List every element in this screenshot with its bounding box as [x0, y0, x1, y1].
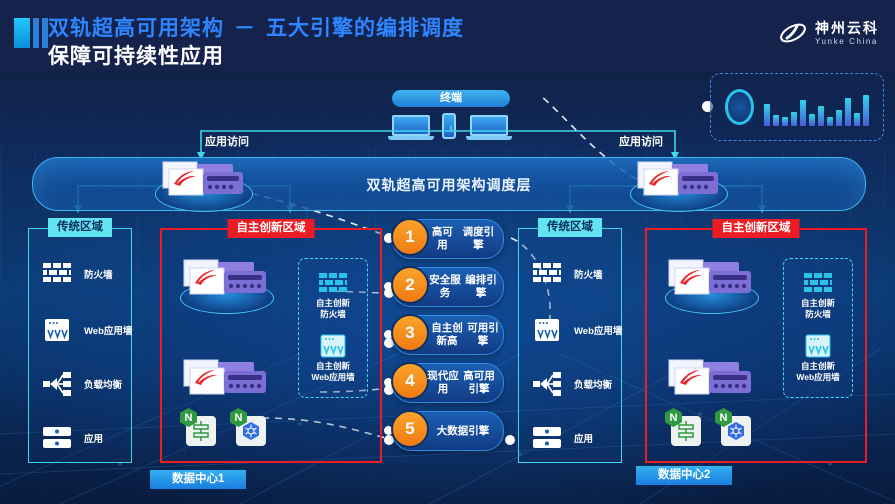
- logo-name-cn: 神州云科: [815, 21, 879, 35]
- bar: [773, 115, 779, 126]
- zone-innovation-dc1: 自主创新区域: [160, 228, 382, 463]
- service-application: 应用: [42, 425, 103, 451]
- service-label: 防火墙: [574, 267, 603, 281]
- service-label: 应用: [84, 431, 103, 445]
- bar: [764, 104, 770, 126]
- zone-traditional-dc1: 传统区域 防火墙 Web应用墙 负载均衡 应用: [28, 228, 132, 463]
- firewall-icon: [42, 261, 72, 287]
- bar: [845, 98, 851, 126]
- engine-label: 自主创新高可用引擎: [427, 316, 499, 354]
- bar: [836, 110, 842, 126]
- service-firewall: 防火墙: [42, 261, 113, 287]
- service-load-balancer: 负载均衡: [42, 371, 122, 397]
- engine-label: 安全服务编排引擎: [427, 268, 499, 306]
- terminal-devices: [392, 113, 510, 147]
- service-application: 应用: [532, 425, 593, 451]
- scheduler-node-right: [630, 160, 726, 210]
- engine-item-4[interactable]: 4现代应用高可用引擎: [392, 363, 504, 403]
- firewall-icon: [803, 273, 833, 295]
- datacenter-label-1: 数据中心1: [150, 470, 246, 489]
- bar: [791, 112, 797, 126]
- engine-label: 现代应用高可用引擎: [427, 364, 499, 402]
- bar: [863, 95, 869, 126]
- kubernetes-icon: [726, 421, 746, 441]
- firewall-icon: [318, 273, 348, 295]
- application-icon: [42, 425, 72, 451]
- title-dash: －: [224, 17, 266, 40]
- scheduler-node-left: [155, 160, 251, 210]
- service-firewall: 防火墙: [532, 261, 603, 287]
- slide-canvas: 双轨超高可用架构－五大引擎的编排调度 保障可持续性应用 神州云科 Yunke C…: [0, 0, 895, 504]
- logo-name-en: Yunke China: [815, 38, 879, 46]
- service-label: 应用: [574, 431, 593, 445]
- innovation-web-app-wall: 自主创新Web应用墙: [796, 334, 839, 382]
- innovation-server-bottom: [178, 360, 278, 406]
- header-bar: 双轨超高可用架构－五大引擎的编排调度 保障可持续性应用 神州云科 Yunke C…: [0, 0, 895, 70]
- firewall-icon: [532, 261, 562, 287]
- engine-list: 1高可用调度引擎2安全服务编排引擎3自主创新高可用引擎4现代应用高可用引擎5大数…: [392, 219, 507, 459]
- access-label-right: 应用访问: [619, 133, 663, 149]
- service-load-balancer: 负载均衡: [532, 371, 612, 397]
- load-balancer-icon: [532, 371, 562, 397]
- zone-tag-traditional: 传统区域: [48, 218, 112, 237]
- innovation-server-top: [663, 260, 763, 312]
- service-label: 负载均衡: [574, 377, 612, 391]
- gateway-icon: [191, 421, 211, 441]
- innovation-web-wall-label: 自主创新Web应用墙: [796, 361, 839, 382]
- zone-tag-traditional: 传统区域: [538, 218, 602, 237]
- bar: [782, 117, 788, 126]
- title-main: 双轨超高可用架构: [48, 17, 224, 40]
- web-app-wall-icon: [320, 334, 346, 358]
- innovation-firewall: 自主创新防火墙: [316, 273, 350, 319]
- innovation-firewall: 自主创新防火墙: [801, 273, 835, 319]
- server-stack-icon: [663, 260, 763, 306]
- bar: [818, 106, 824, 126]
- monitoring-dashboard-decor: [710, 73, 884, 141]
- engine-number: 3: [391, 314, 429, 352]
- laptop-icon: [392, 115, 430, 141]
- bar: [809, 114, 815, 126]
- innovation-components-box-dc2: 自主创新防火墙 自主创新Web应用墙: [783, 258, 853, 398]
- zone-traditional-dc2: 传统区域 防火墙 Web应用墙 负载均衡 应用: [518, 228, 622, 463]
- innovation-components-box-dc1: 自主创新防火墙 自主创新Web应用墙: [298, 258, 368, 398]
- gateway-icon: [676, 421, 696, 441]
- server-stack-icon: [178, 260, 278, 306]
- innovation-web-app-wall: 自主创新Web应用墙: [311, 334, 354, 382]
- header-accent-bars: [14, 18, 48, 48]
- page-subtitle: 保障可持续性应用: [48, 40, 224, 70]
- brand-logo: 神州云科 Yunke China: [778, 20, 879, 46]
- engine-item-5[interactable]: 5大数据引擎: [392, 411, 504, 451]
- logo-text: 神州云科 Yunke China: [815, 21, 879, 46]
- nginx-gateway-chip: N: [671, 416, 701, 446]
- engine-number: 5: [391, 410, 429, 448]
- kubernetes-icon: [241, 421, 261, 441]
- donut-chart-icon: [725, 89, 754, 125]
- terminal-label: 终端: [392, 90, 510, 107]
- kubernetes-chip: N: [721, 416, 751, 446]
- web-app-wall-icon: [42, 317, 72, 343]
- service-label: 防火墙: [84, 267, 113, 281]
- bar: [827, 117, 833, 126]
- innovation-web-wall-label: 自主创新Web应用墙: [311, 361, 354, 382]
- engine-number: 4: [391, 362, 429, 400]
- load-balancer-icon: [42, 371, 72, 397]
- service-label: Web应用墙: [574, 323, 622, 337]
- datacenter-label-2: 数据中心2: [636, 466, 732, 485]
- service-label: Web应用墙: [84, 323, 132, 337]
- kubernetes-chip: N: [236, 416, 266, 446]
- logo-swirl-icon: [778, 20, 808, 46]
- zone-innovation-dc2: 自主创新区域: [645, 228, 867, 463]
- web-app-wall-icon: [532, 317, 562, 343]
- page-title: 双轨超高可用架构－五大引擎的编排调度: [48, 12, 464, 42]
- service-label: 负载均衡: [84, 377, 122, 391]
- service-web-app-wall: Web应用墙: [532, 317, 622, 343]
- engine-item-1[interactable]: 1高可用调度引擎: [392, 219, 504, 259]
- engine-label: 高可用调度引擎: [427, 220, 499, 258]
- engine-label: 大数据引擎: [427, 412, 499, 450]
- innovation-firewall-label: 自主创新防火墙: [316, 298, 350, 319]
- zone-tag-innovation: 自主创新区域: [713, 219, 800, 238]
- phone-icon: [442, 113, 456, 139]
- service-web-app-wall: Web应用墙: [42, 317, 132, 343]
- server-stack-icon: [178, 360, 278, 406]
- engine-item-2[interactable]: 2安全服务编排引擎: [392, 267, 504, 307]
- innovation-server-top: [178, 260, 278, 312]
- bar: [854, 113, 860, 126]
- innovation-server-bottom: [663, 360, 763, 406]
- zone-tag-innovation: 自主创新区域: [228, 219, 315, 238]
- terminal-group: 终端: [392, 90, 510, 147]
- engine-item-3[interactable]: 3自主创新高可用引擎: [392, 315, 504, 355]
- laptop-icon: [470, 115, 508, 141]
- server-stack-icon: [155, 160, 251, 210]
- server-stack-icon: [663, 360, 763, 406]
- engine-number: 2: [391, 266, 429, 304]
- nginx-gateway-chip: N: [186, 416, 216, 446]
- access-label-left: 应用访问: [205, 133, 249, 149]
- engine-number: 1: [391, 218, 429, 256]
- bar-chart-icon: [764, 88, 869, 126]
- title-sub: 五大引擎的编排调度: [266, 17, 464, 40]
- server-stack-icon: [630, 160, 726, 210]
- application-icon: [532, 425, 562, 451]
- innovation-firewall-label: 自主创新防火墙: [801, 298, 835, 319]
- bar: [800, 100, 806, 126]
- web-app-wall-icon: [805, 334, 831, 358]
